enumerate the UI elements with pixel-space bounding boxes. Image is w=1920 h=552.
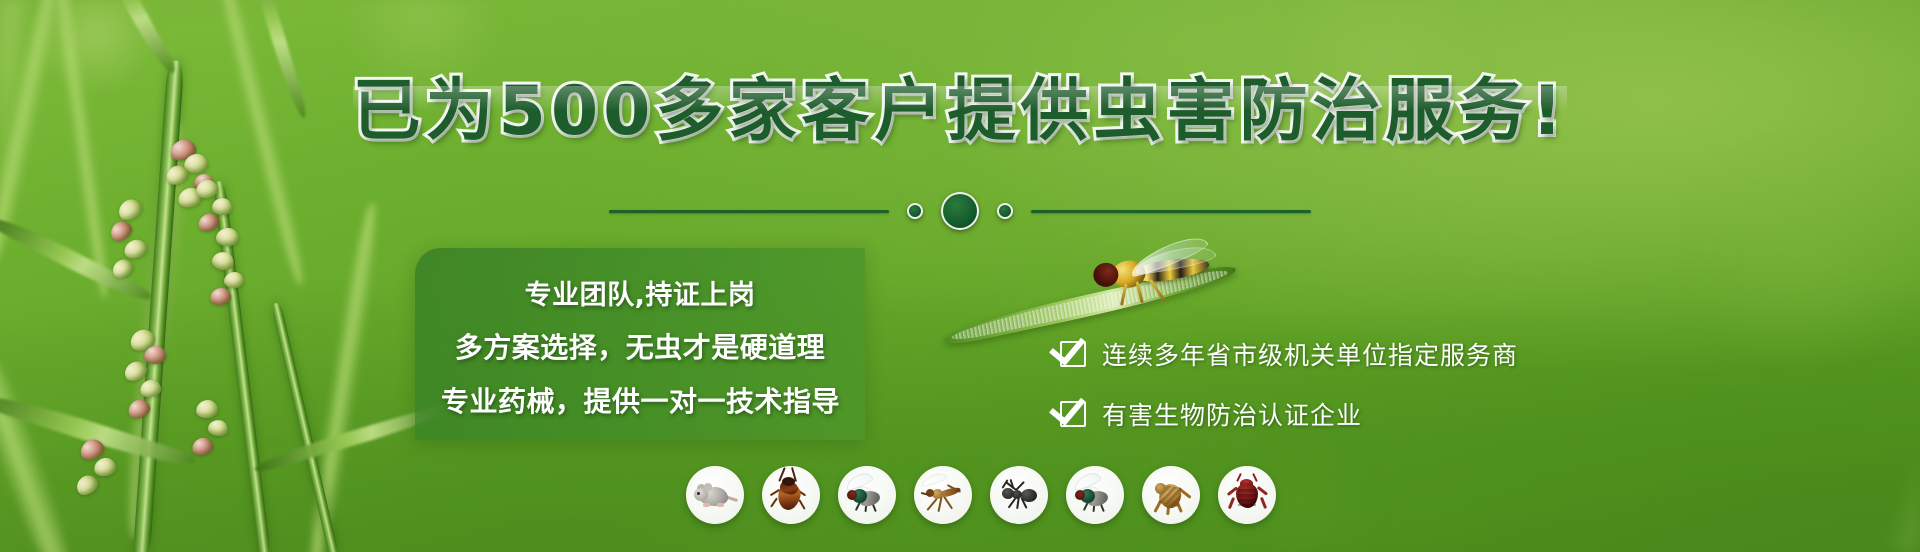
divider-dot-large xyxy=(941,192,979,230)
fly-icon xyxy=(845,475,889,515)
checkbox-checked-icon xyxy=(1060,401,1086,427)
credentials-check-list: 连续多年省市级机关单位指定服务商 有害生物防治认证企业 xyxy=(1060,336,1518,432)
service-highlights-panel: 专业团队,持证上岗 多方案选择，无虫才是硬道理 专业药械，提供一对一技术指导 xyxy=(415,248,865,440)
highlight-line-3: 专业药械，提供一对一技术指导 xyxy=(441,380,839,420)
highlight-line-2: 多方案选择，无虫才是硬道理 xyxy=(441,326,839,366)
fly-icon-2 xyxy=(1073,475,1117,515)
mosquito-icon xyxy=(921,475,965,515)
pest-chip-cockroach[interactable] xyxy=(762,466,820,524)
pest-chip-fly-2[interactable] xyxy=(1066,466,1124,524)
decorative-divider xyxy=(0,192,1920,230)
divider-line-right xyxy=(1031,210,1311,213)
ant-icon xyxy=(997,475,1041,515)
divider-dot-small-left xyxy=(907,203,923,219)
pest-chip-flea[interactable] xyxy=(1142,466,1200,524)
pest-chip-fly[interactable] xyxy=(838,466,896,524)
banner-headline: 已为500多家客户提供虫害防治服务! xyxy=(0,76,1920,148)
divider-dot-small-right xyxy=(997,203,1013,219)
credential-label-2: 有害生物防治认证企业 xyxy=(1102,396,1362,432)
bedbug-icon xyxy=(1225,475,1269,515)
pest-chip-ant[interactable] xyxy=(990,466,1048,524)
checkbox-checked-icon xyxy=(1060,341,1086,367)
pest-chip-bedbug[interactable] xyxy=(1218,466,1276,524)
pest-chip-mouse[interactable] xyxy=(686,466,744,524)
mouse-icon xyxy=(693,475,737,515)
highlight-line-1: 专业团队,持证上岗 xyxy=(441,273,839,312)
credential-item: 有害生物防治认证企业 xyxy=(1060,396,1518,432)
pest-control-hero-banner: 已为500多家客户提供虫害防治服务! 专业团队,持证上岗 多方案选择，无虫才是硬… xyxy=(0,0,1920,552)
pest-type-icon-row xyxy=(686,466,1276,524)
flea-icon xyxy=(1149,475,1193,515)
credential-item: 连续多年省市级机关单位指定服务商 xyxy=(1060,336,1518,372)
banner-headline-text: 已为500多家客户提供虫害防治服务! xyxy=(353,76,1568,148)
divider-line-left xyxy=(609,210,889,213)
pest-chip-mosquito[interactable] xyxy=(914,466,972,524)
credential-label-1: 连续多年省市级机关单位指定服务商 xyxy=(1102,336,1518,372)
cockroach-icon xyxy=(769,475,813,515)
